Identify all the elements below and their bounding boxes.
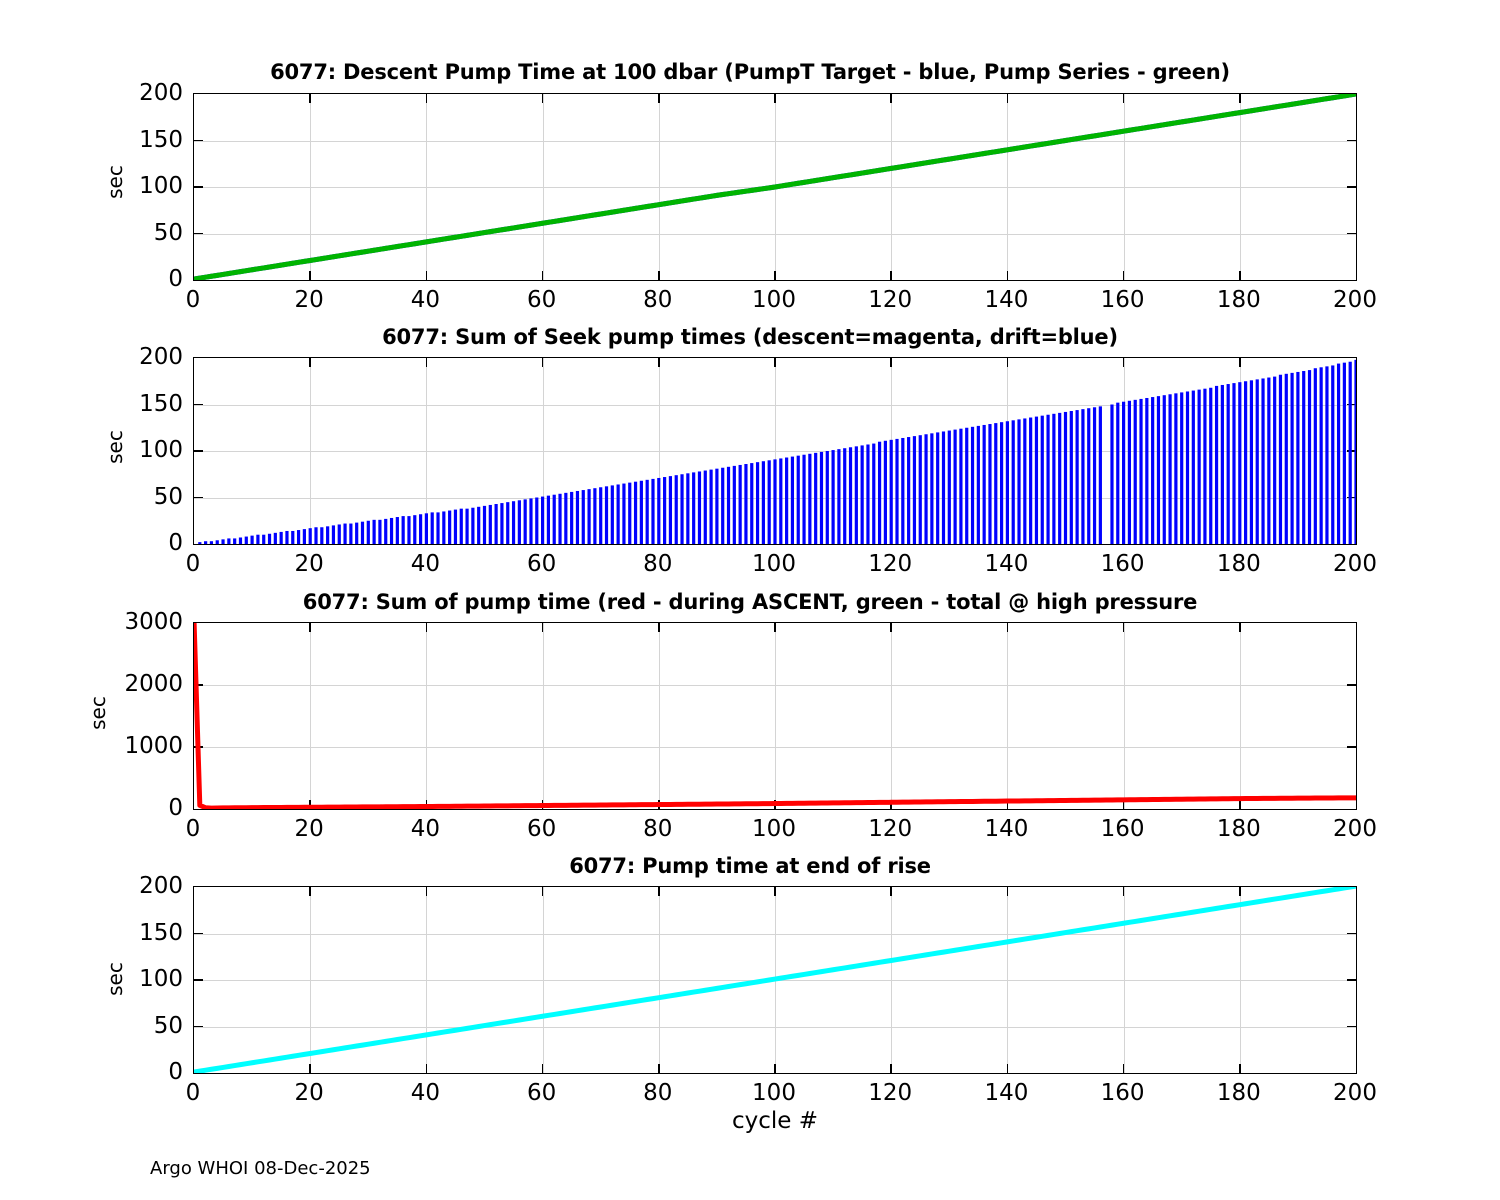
- bar: [605, 486, 608, 544]
- y-tick-label: 1000: [93, 733, 183, 759]
- bar: [1186, 391, 1189, 544]
- bar: [884, 441, 887, 544]
- bar: [576, 491, 579, 544]
- panel-descent-pump-time: 6077: Descent Pump Time at 100 dbar (Pum…: [0, 0, 1500, 310]
- bar: [814, 453, 817, 544]
- bar: [524, 499, 527, 544]
- series-layer: [194, 623, 1356, 809]
- bar: [251, 536, 254, 544]
- bar: [1116, 403, 1119, 544]
- bar: [343, 524, 346, 544]
- bar: [495, 504, 498, 544]
- bar: [471, 508, 474, 544]
- bar: [692, 472, 695, 544]
- bar: [1151, 397, 1154, 544]
- y-tick-label: 3000: [93, 609, 183, 635]
- bar: [768, 460, 771, 544]
- bar: [704, 471, 707, 544]
- bar: [535, 498, 538, 545]
- bar: [1250, 380, 1253, 544]
- bar: [326, 526, 329, 544]
- bar: [465, 509, 468, 544]
- bar: [233, 538, 236, 544]
- bar: [907, 437, 910, 544]
- bar: [919, 435, 922, 544]
- bar: [268, 534, 271, 544]
- bar: [1110, 405, 1113, 545]
- bar: [802, 455, 805, 544]
- x-tick-label: 180: [1217, 551, 1261, 577]
- bar: [773, 459, 776, 544]
- bar: [744, 464, 747, 544]
- bar: [314, 527, 317, 544]
- bar: [808, 454, 811, 544]
- x-tick-label: 140: [984, 816, 1028, 842]
- bar: [390, 518, 393, 544]
- bar: [727, 467, 730, 544]
- bar: [564, 493, 567, 544]
- y-tick-label: 100: [93, 173, 183, 199]
- bar: [1168, 394, 1171, 544]
- panel-2-title: 6077: Sum of Seek pump times (descent=ma…: [0, 325, 1500, 349]
- data-line: [194, 887, 1356, 1072]
- bar: [1157, 396, 1160, 544]
- bar: [861, 445, 864, 544]
- bar: [634, 482, 637, 544]
- bar: [756, 462, 759, 544]
- bar: [512, 501, 515, 544]
- bar: [1192, 391, 1195, 544]
- bar: [1029, 418, 1032, 544]
- bar: [436, 512, 439, 544]
- bar: [826, 451, 829, 544]
- x-tick-label: 80: [643, 816, 672, 842]
- panel-sum-pump-time: 6077: Sum of pump time (red - during ASC…: [0, 576, 1500, 842]
- x-tick-label: 20: [295, 1080, 324, 1106]
- bar: [878, 442, 881, 544]
- bar: [646, 480, 649, 544]
- bar: [820, 452, 823, 544]
- bar: [442, 511, 445, 544]
- bar: [1273, 377, 1276, 544]
- bar: [797, 456, 800, 544]
- bar: [855, 446, 858, 544]
- bar: [1308, 370, 1311, 544]
- series-layer: [194, 94, 1356, 280]
- bar: [837, 449, 840, 544]
- figure-canvas: 6077: Descent Pump Time at 100 dbar (Pum…: [0, 0, 1500, 1200]
- x-tick-label: 140: [984, 1080, 1028, 1106]
- bar: [582, 490, 585, 544]
- y-tick-label: 50: [93, 220, 183, 246]
- bar: [547, 496, 550, 544]
- x-tick-label: 0: [186, 816, 201, 842]
- x-tick-label: 20: [295, 551, 324, 577]
- x-axis-label: cycle #: [193, 1108, 1357, 1134]
- bar: [529, 498, 532, 544]
- data-line: [194, 94, 1356, 279]
- bar: [367, 521, 370, 544]
- x-tick-label: 40: [411, 551, 440, 577]
- bar: [297, 530, 300, 544]
- bar: [1296, 372, 1299, 544]
- bar: [1314, 368, 1317, 544]
- y-tick-label: 100: [93, 966, 183, 992]
- bar: [1256, 379, 1259, 544]
- bar: [965, 428, 968, 544]
- y-tick-label: 200: [93, 873, 183, 899]
- bar: [1139, 399, 1142, 544]
- panel-3-title: 6077: Sum of pump time (red - during ASC…: [0, 590, 1500, 614]
- bar: [983, 425, 986, 544]
- bar: [721, 468, 724, 544]
- bar: [256, 535, 259, 544]
- bar: [657, 478, 660, 544]
- bar: [1227, 384, 1230, 544]
- bar: [454, 510, 457, 544]
- bar: [413, 515, 416, 544]
- bar: [402, 516, 405, 544]
- bar: [930, 433, 933, 544]
- panel-1-title: 6077: Descent Pump Time at 100 dbar (Pum…: [0, 60, 1500, 84]
- bar: [1221, 385, 1224, 544]
- x-tick-label: 120: [868, 551, 912, 577]
- bar: [338, 524, 341, 544]
- x-tick-label: 200: [1333, 1080, 1377, 1106]
- bar: [785, 458, 788, 544]
- bar: [1180, 392, 1183, 544]
- bar: [1017, 419, 1020, 544]
- x-tick-label: 60: [527, 1080, 556, 1106]
- bar: [506, 502, 509, 544]
- y-tick-label: 150: [93, 127, 183, 153]
- bar: [1267, 378, 1270, 544]
- x-tick-label: 160: [1101, 816, 1145, 842]
- x-tick-label: 160: [1101, 1080, 1145, 1106]
- bar: [895, 439, 898, 544]
- bar: [431, 512, 434, 544]
- bar: [715, 469, 718, 544]
- bar: [239, 537, 242, 544]
- bar: [477, 507, 480, 544]
- bar: [611, 485, 614, 544]
- bar: [553, 495, 556, 544]
- x-tick-label: 160: [1101, 551, 1145, 577]
- bar: [1058, 413, 1061, 544]
- bar: [640, 481, 643, 544]
- y-tick-label: 0: [93, 530, 183, 556]
- bar: [593, 488, 596, 544]
- bar: [739, 465, 742, 544]
- x-tick-label: 40: [411, 1080, 440, 1106]
- bar: [1337, 364, 1340, 544]
- bar: [1285, 374, 1288, 544]
- bar: [1035, 417, 1038, 544]
- panel-4-axes: [193, 886, 1357, 1074]
- y-tick-label: 200: [93, 344, 183, 370]
- bar: [680, 474, 683, 544]
- bar: [1163, 395, 1166, 544]
- bar: [460, 509, 463, 544]
- bar: [1215, 386, 1218, 544]
- bar: [617, 484, 620, 544]
- bar: [948, 431, 951, 544]
- bar: [1041, 416, 1044, 544]
- x-tick-label: 180: [1217, 1080, 1261, 1106]
- bar: [622, 484, 625, 544]
- y-tick-label: 0: [93, 795, 183, 821]
- bar: [959, 429, 962, 544]
- x-tick-label: 60: [527, 816, 556, 842]
- x-tick-label: 40: [411, 816, 440, 842]
- panel-1-axes: [193, 93, 1357, 281]
- bar: [750, 463, 753, 544]
- bar: [216, 540, 219, 544]
- bar: [1244, 381, 1247, 544]
- bar: [1325, 366, 1328, 544]
- y-tick-label: 0: [93, 266, 183, 292]
- x-tick-label: 200: [1333, 551, 1377, 577]
- bar: [1046, 415, 1049, 544]
- bar: [890, 440, 893, 544]
- x-tick-label: 20: [295, 816, 324, 842]
- bar: [977, 426, 980, 544]
- bar: [1145, 398, 1148, 544]
- bar: [849, 447, 852, 544]
- y-tick-label: 150: [93, 920, 183, 946]
- bar: [1023, 418, 1026, 544]
- series-layer: [194, 887, 1356, 1073]
- bar: [320, 527, 323, 544]
- bar: [210, 541, 213, 544]
- bar: [1238, 382, 1241, 544]
- bar: [866, 444, 869, 544]
- bar: [832, 450, 835, 544]
- x-tick-label: 180: [1217, 816, 1261, 842]
- bar: [245, 537, 248, 544]
- bar: [1343, 363, 1346, 544]
- bar: [291, 531, 294, 544]
- bar: [1174, 393, 1177, 544]
- bar: [448, 511, 451, 544]
- bar: [309, 528, 312, 544]
- bar: [483, 506, 486, 544]
- bar: [1320, 367, 1323, 544]
- bar: [1122, 402, 1125, 544]
- bar: [1203, 389, 1206, 544]
- data-line: [194, 623, 1356, 808]
- panel-3-axes: [193, 622, 1357, 810]
- bar: [663, 477, 666, 544]
- bar: [599, 487, 602, 544]
- y-tick-label: 150: [93, 391, 183, 417]
- bar: [1302, 371, 1305, 544]
- bar: [425, 513, 428, 544]
- bar: [1000, 422, 1003, 544]
- bar: [1279, 375, 1282, 544]
- bar: [1261, 378, 1264, 544]
- x-tick-label: 120: [868, 816, 912, 842]
- bar: [954, 430, 957, 544]
- bar: [1128, 401, 1131, 544]
- bar: [686, 473, 689, 544]
- bar: [1331, 365, 1334, 544]
- bar: [1099, 406, 1102, 544]
- bar: [651, 479, 654, 544]
- bar: [779, 458, 782, 544]
- bar: [349, 524, 352, 544]
- x-tick-label: 100: [752, 816, 796, 842]
- bar: [924, 434, 927, 544]
- y-tick-label: 50: [93, 1013, 183, 1039]
- figure-footer: Argo WHOI 08-Dec-2025: [150, 1158, 371, 1179]
- bar: [936, 432, 939, 544]
- bar: [1354, 360, 1356, 544]
- bar: [373, 520, 376, 544]
- bar: [419, 514, 422, 544]
- bar: [518, 500, 521, 544]
- bar: [1064, 412, 1067, 544]
- bar: [988, 424, 991, 544]
- bar: [1087, 408, 1090, 544]
- bar: [332, 525, 335, 544]
- bar: [762, 461, 765, 544]
- bar: [407, 516, 410, 544]
- bar: [1134, 400, 1137, 544]
- x-tick-label: 60: [527, 551, 556, 577]
- bar: [1012, 420, 1015, 544]
- bar: [500, 503, 503, 544]
- y-tick-label: 0: [93, 1059, 183, 1085]
- bar: [1198, 390, 1201, 544]
- bar: [355, 523, 358, 544]
- x-tick-label: 0: [186, 1080, 201, 1106]
- bar: [1081, 409, 1084, 544]
- bar: [1006, 421, 1009, 544]
- x-tick-label: 100: [752, 551, 796, 577]
- panel-seek-pump-times: 6077: Sum of Seek pump times (descent=ma…: [0, 310, 1500, 576]
- bar: [262, 535, 265, 544]
- x-tick-label: 120: [868, 1080, 912, 1106]
- bar: [628, 483, 631, 544]
- bar: [558, 494, 561, 544]
- y-tick-label: 200: [93, 80, 183, 106]
- bar: [384, 519, 387, 544]
- bar: [675, 475, 678, 544]
- x-tick-label: 140: [984, 551, 1028, 577]
- y-tick-label: 2000: [93, 671, 183, 697]
- x-tick-label: 100: [752, 1080, 796, 1106]
- bar: [570, 492, 573, 544]
- bar: [227, 538, 230, 544]
- bar: [204, 541, 207, 544]
- bar: [872, 444, 875, 544]
- bar: [280, 532, 283, 544]
- bar: [1070, 411, 1073, 544]
- bar: [1209, 388, 1212, 544]
- bar: [396, 517, 399, 544]
- bar: [1093, 407, 1096, 544]
- x-tick-label: 0: [186, 551, 201, 577]
- bar: [541, 497, 544, 544]
- bar: [489, 505, 492, 544]
- panel-2-axes: [193, 357, 1357, 545]
- bar: [1232, 383, 1235, 544]
- bar: [698, 471, 701, 544]
- bar: [1349, 362, 1352, 544]
- bar: [221, 539, 224, 544]
- panel-4-title: 6077: Pump time at end of rise: [0, 854, 1500, 878]
- bar: [198, 542, 201, 544]
- bar: [1076, 410, 1079, 544]
- bar: [303, 529, 306, 544]
- bar: [791, 457, 794, 544]
- series-layer: [194, 358, 1356, 544]
- bar: [274, 533, 277, 544]
- bar: [1052, 414, 1055, 544]
- bar: [1290, 373, 1293, 544]
- x-tick-label: 80: [643, 551, 672, 577]
- x-tick-label: 80: [643, 1080, 672, 1106]
- bar: [971, 427, 974, 544]
- y-tick-label: 100: [93, 437, 183, 463]
- bar: [942, 431, 945, 544]
- y-tick-label: 50: [93, 484, 183, 510]
- bar: [733, 466, 736, 544]
- bar: [709, 470, 712, 544]
- bar: [378, 520, 381, 544]
- bar: [285, 531, 288, 544]
- bar: [994, 423, 997, 544]
- bar: [361, 522, 364, 544]
- panel-pump-time-end-of-rise: 6077: Pump time at end of rise sec cycle…: [0, 842, 1500, 1142]
- bar: [669, 476, 672, 544]
- bar: [901, 438, 904, 544]
- x-tick-label: 200: [1333, 816, 1377, 842]
- bar: [913, 436, 916, 544]
- bar: [843, 448, 846, 544]
- bar: [587, 489, 590, 544]
